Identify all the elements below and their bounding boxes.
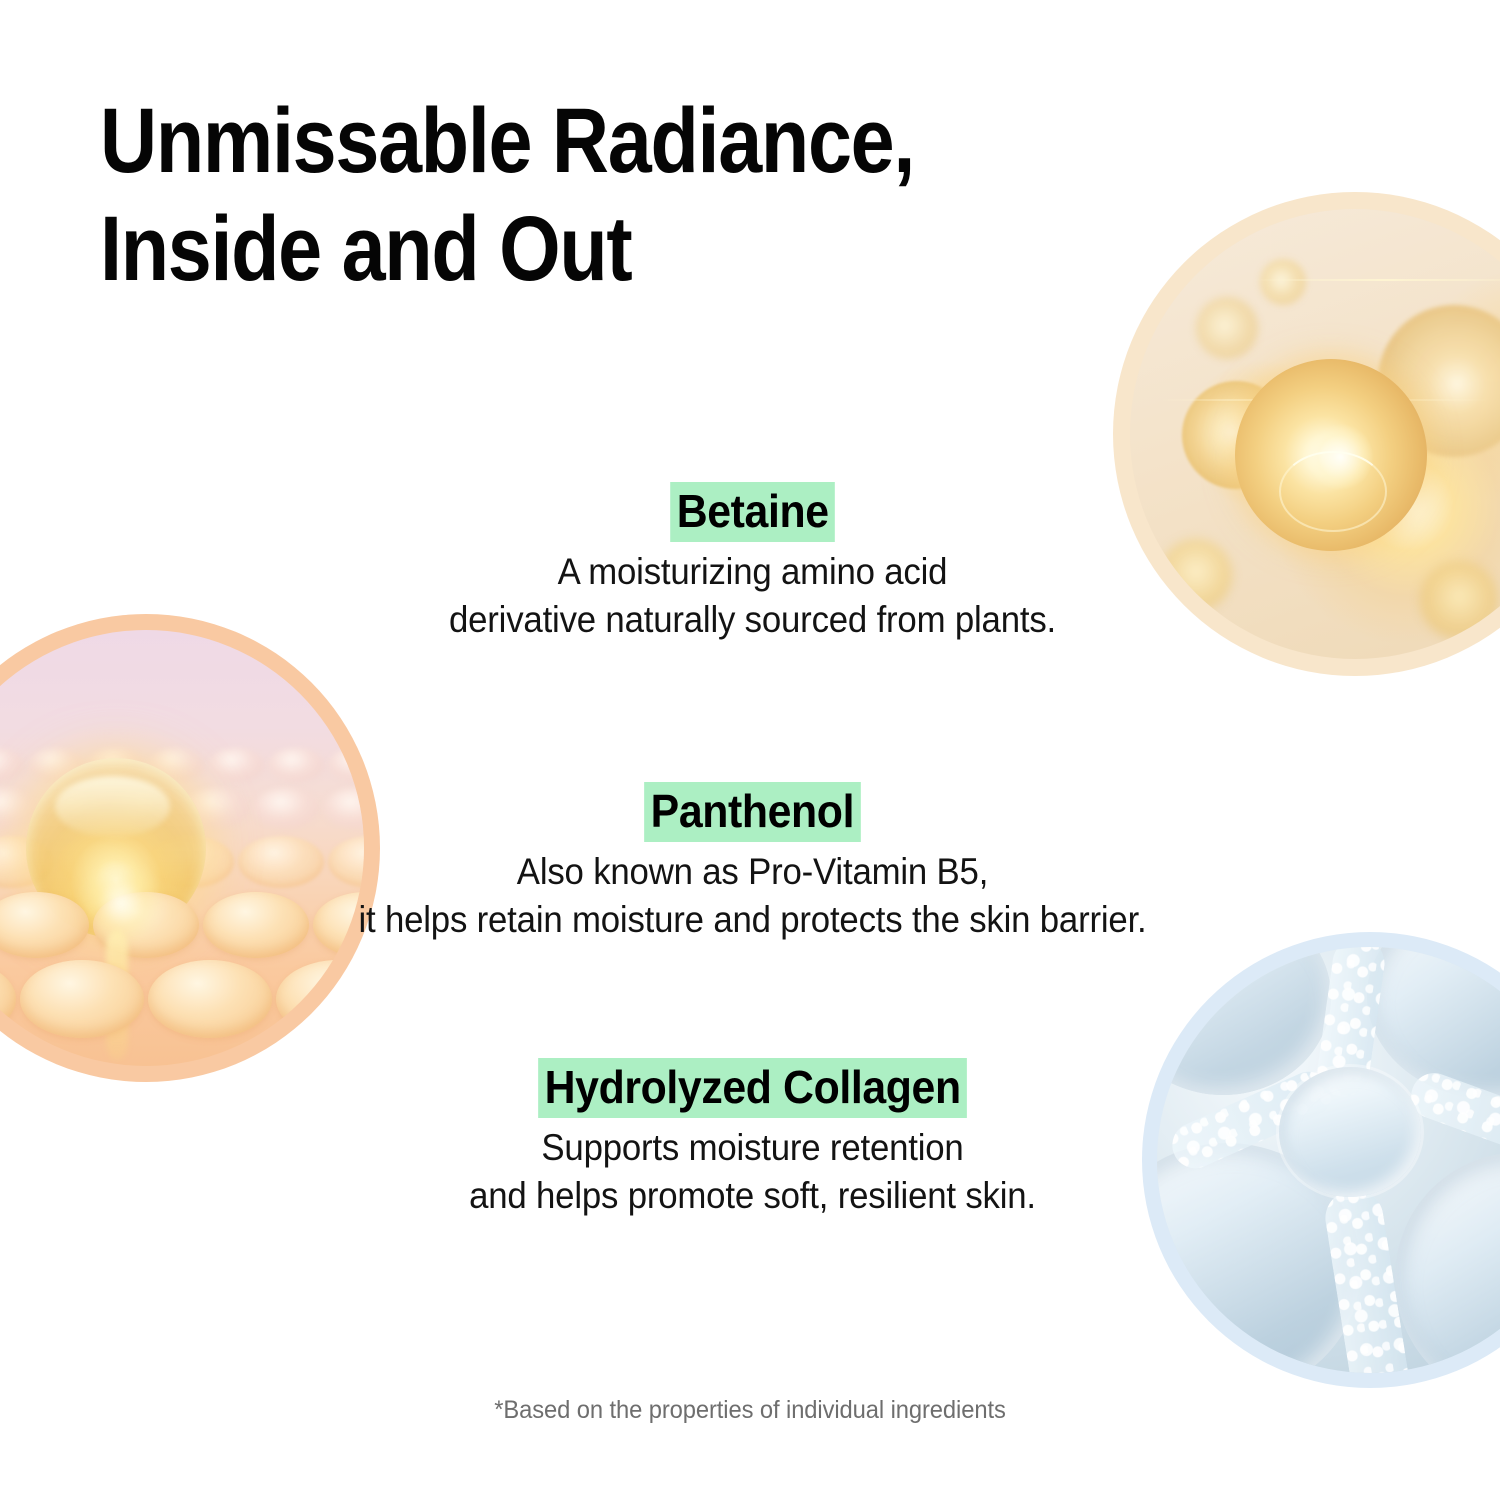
gold-bokeh-sphere [1196, 297, 1258, 359]
ingredient-description-betaine: A moisturizing amino acid derivative nat… [271, 548, 1235, 644]
gold-bokeh-sphere [1260, 259, 1306, 305]
ingredient-name-panthenol: Panthenol [644, 782, 860, 842]
skin-cell-row-front [0, 960, 364, 1038]
water-lobe [1395, 1153, 1500, 1373]
ingredient-block-panthenol: Panthenol Also known as Pro-Vitamin B5, … [240, 782, 1265, 944]
ingredient-name-hydrolyzed-collagen: Hydrolyzed Collagen [538, 1058, 967, 1118]
page-title: Unmissable Radiance, Inside and Out [100, 88, 1012, 303]
ingredient-block-hydrolyzed-collagen: Hydrolyzed Collagen Supports moisture re… [240, 1058, 1265, 1220]
ingredient-label-wrap: Betaine [240, 482, 1265, 542]
center-water-bubble [1279, 1067, 1421, 1197]
ingredient-description-hydrolyzed-collagen: Supports moisture retention and helps pr… [271, 1124, 1235, 1220]
ingredient-description-panthenol: Also known as Pro-Vitamin B5, it helps r… [271, 848, 1235, 944]
ingredient-name-betaine: Betaine [670, 482, 835, 542]
ingredient-label-wrap: Panthenol [240, 782, 1265, 842]
ingredient-block-betaine: Betaine A moisturizing amino acid deriva… [240, 482, 1265, 644]
light-flare [1250, 279, 1500, 281]
droplet-glow [78, 860, 164, 946]
ingredient-benefits-graphic: Unmissable Radiance, Inside and Out Beta… [0, 0, 1500, 1500]
ingredient-label-wrap: Hydrolyzed Collagen [240, 1058, 1265, 1118]
gold-bokeh-sphere [1420, 561, 1498, 639]
disclaimer-footnote: *Based on the properties of individual i… [38, 1396, 1463, 1425]
skin-cell-row-back [0, 748, 364, 782]
